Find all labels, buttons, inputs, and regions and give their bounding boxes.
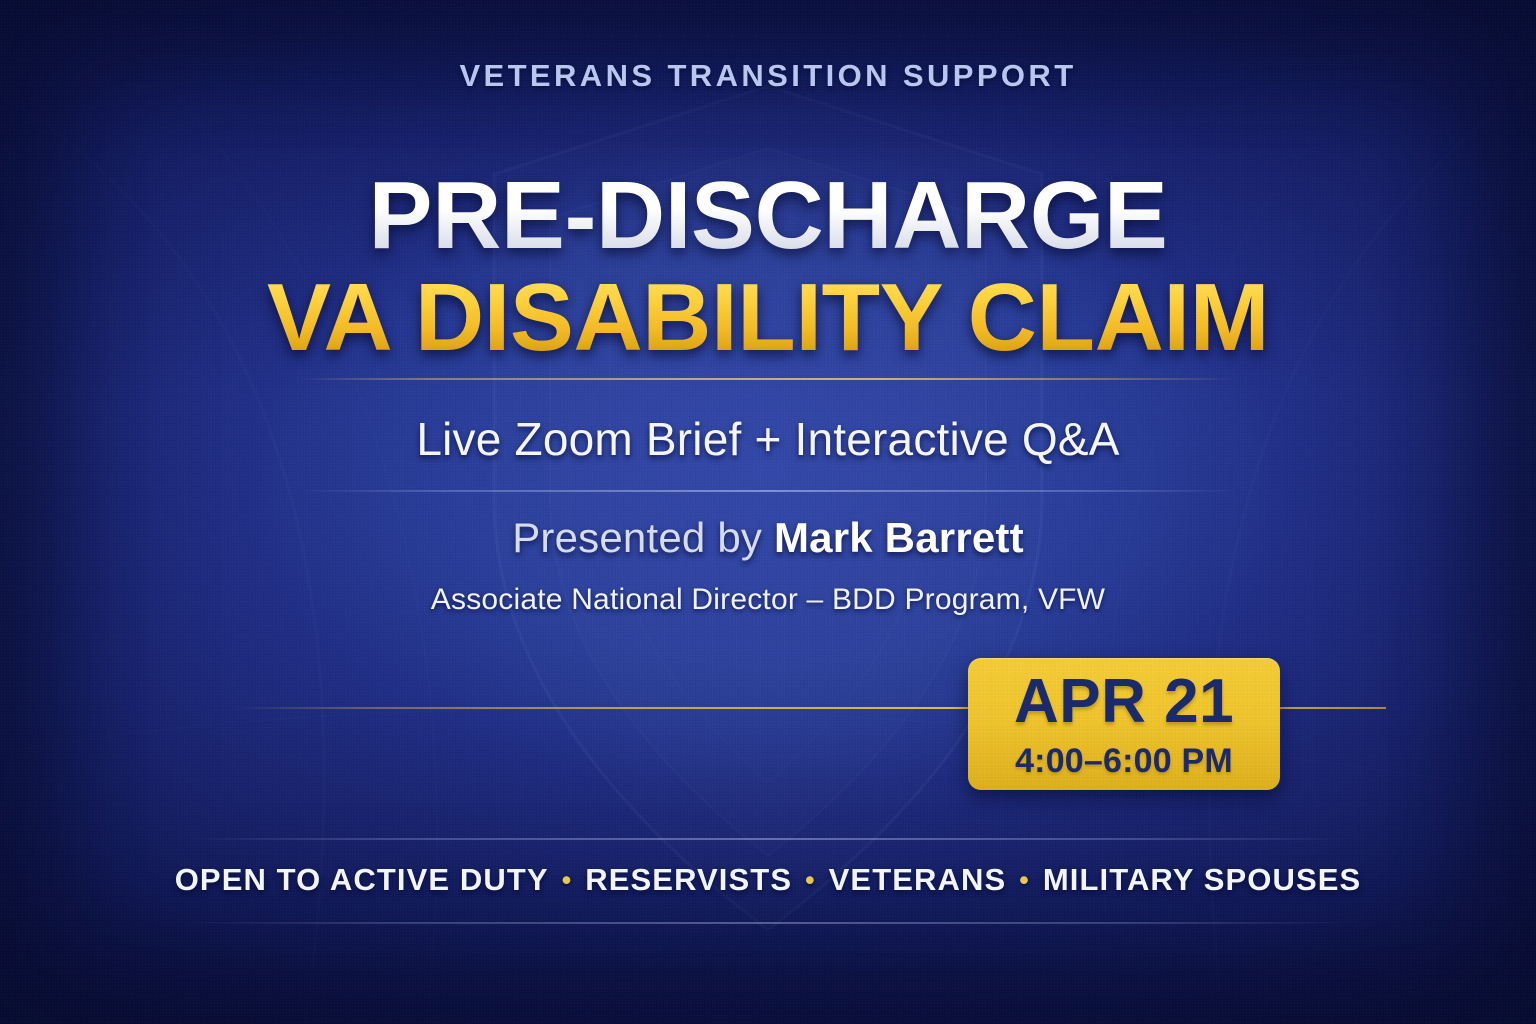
presenter-prefix: Presented by <box>512 514 774 561</box>
promo-poster: VETERANS TRANSITION SUPPORT PRE-DISCHARG… <box>0 0 1536 1024</box>
divider-light-middle <box>300 490 1236 492</box>
divider-footer-top <box>190 838 1346 840</box>
divider-gold-upper <box>300 378 1236 380</box>
audience-footer: OPEN TO ACTIVE DUTY•RESERVISTS•VETERANS•… <box>0 862 1536 898</box>
headline-line-2: VA DISABILITY CLAIM <box>0 270 1536 366</box>
presenter-role: Associate National Director – BDD Progra… <box>0 583 1536 617</box>
footer-separator-bullet: • <box>805 865 816 896</box>
divider-footer-bottom <box>190 922 1346 924</box>
footer-separator-bullet: • <box>1019 865 1030 896</box>
footer-item: VETERANS <box>829 862 1007 898</box>
eyebrow-label: VETERANS TRANSITION SUPPORT <box>0 58 1536 94</box>
footer-separator-bullet: • <box>562 865 573 896</box>
presenter-line: Presented by Mark Barrett <box>0 514 1536 562</box>
headline-line-1: PRE-DISCHARGE <box>0 168 1536 264</box>
footer-item: RESERVISTS <box>585 862 792 898</box>
subtitle-text: Live Zoom Brief + Interactive Q&A <box>0 412 1536 466</box>
date-badge-time: 4:00–6:00 PM <box>1015 744 1233 778</box>
presenter-name: Mark Barrett <box>774 514 1024 561</box>
poster-content: VETERANS TRANSITION SUPPORT PRE-DISCHARG… <box>0 0 1536 1024</box>
date-badge-day: APR 21 <box>1014 671 1234 733</box>
footer-item: MILITARY SPOUSES <box>1043 862 1361 898</box>
footer-item: OPEN TO ACTIVE DUTY <box>175 862 549 898</box>
date-badge[interactable]: APR 21 4:00–6:00 PM <box>968 658 1280 790</box>
